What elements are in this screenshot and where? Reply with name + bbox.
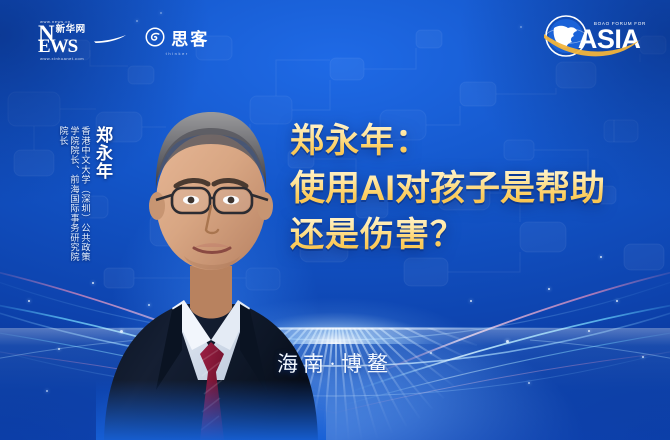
speaker-name-block: 郑永年 香港中文大学（深圳）公共政策学院院长、前海国际事务研究院院长 xyxy=(57,126,112,268)
sike-pinyin: thinker xyxy=(166,51,189,56)
speaker-title: 香港中文大学（深圳）公共政策学院院长、前海国际事务研究院院长 xyxy=(57,126,90,268)
sike-spiral-icon xyxy=(145,27,165,47)
sike-logo[interactable]: 思客 thinker xyxy=(145,25,209,56)
xinhua-logo[interactable]: www.news.cn N 新华网 EWS www.xinhuanet.com xyxy=(38,19,127,61)
logo-row: www.news.cn N 新华网 EWS www.xinhuanet.com … xyxy=(38,19,209,61)
speaker-name: 郑永年 xyxy=(93,126,112,180)
xinhua-name-cn: 新华网 xyxy=(56,24,86,35)
kv-poster: www.news.cn N 新华网 EWS www.xinhuanet.com … xyxy=(0,0,670,440)
xinhua-mark-ews: EWS xyxy=(38,38,77,56)
location-label: 海南·博鳌 xyxy=(0,348,670,378)
headline-line-1: 郑永年： xyxy=(290,118,650,165)
xinhua-domain-bottom: www.xinhuanet.com xyxy=(40,56,127,61)
headline: 郑永年： 使用AI对孩子是帮助 还是伤害？ xyxy=(290,118,650,259)
sike-name: 思客 xyxy=(171,25,209,50)
headline-line-3: 还是伤害？ xyxy=(290,212,650,259)
boao-forum-logo[interactable]: BOAO FORUM FOR ASIA xyxy=(544,14,646,58)
boao-asia-word: ASIA xyxy=(578,26,646,52)
xinhua-swoosh-icon xyxy=(93,35,127,43)
headline-line-2: 使用AI对孩子是帮助 xyxy=(290,165,650,212)
